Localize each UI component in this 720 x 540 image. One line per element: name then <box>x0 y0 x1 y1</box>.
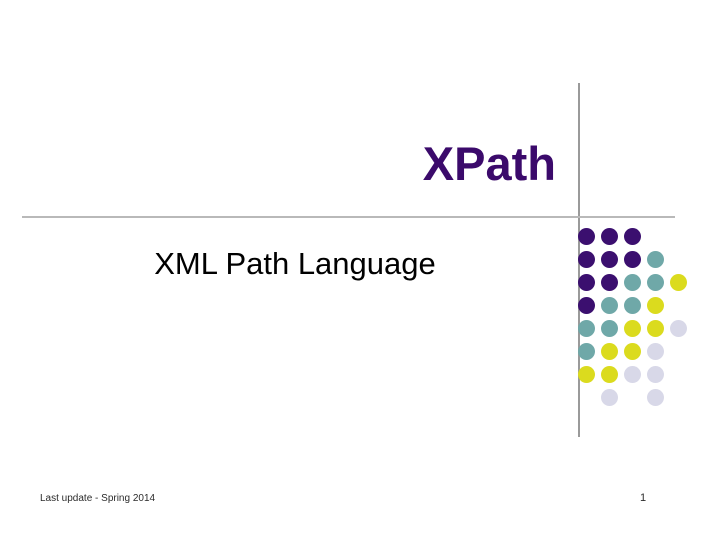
page-title: XPath <box>60 139 556 188</box>
decorative-dot <box>578 297 595 314</box>
decorative-dot <box>601 320 618 337</box>
decorative-dot <box>601 297 618 314</box>
decorative-dot <box>624 274 641 291</box>
decorative-dot <box>578 343 595 360</box>
decorative-dot <box>624 343 641 360</box>
decorative-dot <box>578 366 595 383</box>
page-number: 1 <box>640 492 680 504</box>
decorative-dot <box>601 274 618 291</box>
decorative-dot <box>578 251 595 268</box>
decorative-dot <box>601 343 618 360</box>
decorative-dot <box>647 320 664 337</box>
decorative-dot <box>647 251 664 268</box>
decorative-dot <box>601 251 618 268</box>
decorative-dot <box>601 366 618 383</box>
slide-canvas: XPath XML Path Language Last update - Sp… <box>0 0 720 540</box>
decorative-dot <box>647 343 664 360</box>
decorative-dot <box>624 320 641 337</box>
decorative-dot <box>578 274 595 291</box>
page-subtitle: XML Path Language <box>30 246 560 282</box>
decorative-dot <box>601 389 618 406</box>
footer-note: Last update - Spring 2014 <box>40 493 155 504</box>
decorative-dot <box>601 228 618 245</box>
decorative-dot-grid <box>578 228 708 410</box>
decorative-dot <box>624 366 641 383</box>
decorative-dot <box>578 320 595 337</box>
decorative-dot <box>578 228 595 245</box>
decorative-dot <box>647 366 664 383</box>
decorative-dot <box>670 274 687 291</box>
decorative-dot <box>647 297 664 314</box>
decorative-dot <box>624 228 641 245</box>
decorative-dot <box>647 389 664 406</box>
horizontal-divider-rule <box>22 216 675 218</box>
decorative-dot <box>647 274 664 291</box>
decorative-dot <box>624 251 641 268</box>
decorative-dot <box>670 320 687 337</box>
decorative-dot <box>624 297 641 314</box>
